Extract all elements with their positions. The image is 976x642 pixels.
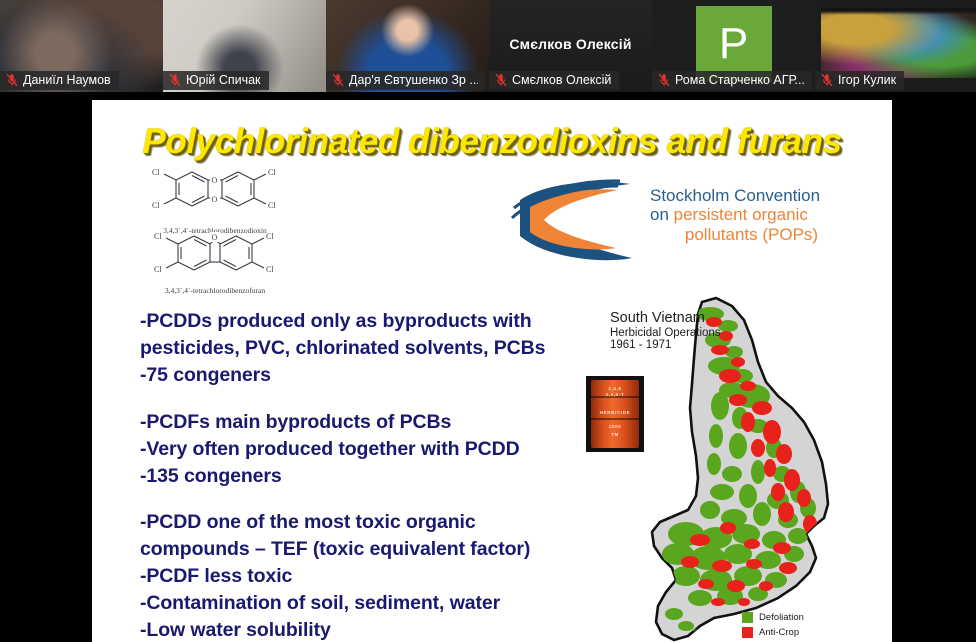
participant-nameplate-6: Ігор Кулик [815,71,904,90]
agent-orange-barrel-photo: 2,4,5 2,4,5-T HERBICIDE 1000 TM [586,376,644,452]
participant-video-6 [821,8,976,78]
barrel-text-5: TM [591,432,639,437]
participant-name-2: Юрій Спичак [186,73,261,87]
participant-nameplate-4: Смєлков Олексій [489,71,619,90]
logo-line-3: pollutants (POPs) [650,225,820,244]
tetrachlorodibenzofuran-structure: O Cl Cl Cl Cl 3,4,3`,4`-tetrachlorodiben… [140,230,290,295]
legend-label-anti-crop: Anti-Crop [759,627,799,638]
chlorine-label: Cl [154,265,162,274]
legend-swatch-green [742,612,753,623]
participant-name-3: Дар'я Євтушенко Зр ... [349,73,478,87]
barrel-text-4: 1000 [591,424,639,429]
bullet-lead-1: -PCDDs [140,310,212,332]
microphone-muted-icon [821,73,833,87]
microphone-muted-icon [6,73,18,87]
legend-item-defoliation: Defoliation [742,612,804,623]
chlorine-label: Cl [268,168,276,177]
participant-display-name-4: Смєлков Олексій [489,36,652,52]
barrel-text-1: 2,4,5 [591,386,639,391]
bullet-line-3: -75 congeners [140,362,600,389]
bullet-line-5: -PCDFs main byproducts of PCBs [140,409,600,436]
bullet-rest-1: produced only as byproducts with [212,310,532,332]
bullet-line-9: -PCDD one of the most toxic organic [140,509,600,536]
stockholm-convention-logo: Stockholm Convention on persistent organ… [510,178,880,276]
stockholm-swoosh-icon [510,178,648,270]
tetrachlorodibenzodioxin-structure: O O Cl Cl Cl Cl 3,4,3`,4`-tetrachlorodib… [140,168,290,235]
participant-tile-5[interactable]: Р Рома Старченко АГР... [652,0,815,92]
bullet-spacer-1 [140,389,600,409]
participant-filmstrip: Даниїл Наумов Юрій Спичак [0,0,976,92]
bullet-line-11: -PCDF less toxic [140,563,600,590]
bullet-rest-5: main byproducts of PCBs [210,411,451,433]
participant-nameplate-3: Дар'я Євтушенко Зр ... [326,71,486,90]
map-caption-line-3: 1961 - 1971 [610,339,721,351]
barrel-text-2: 2,4,5-T [591,392,639,397]
slide-title: Polychlorinated dibenzodioxins and furan… [92,122,892,162]
microphone-muted-icon [658,73,670,87]
map-caption-line-2: Herbicidal Operations [610,327,721,339]
bullet-line-10: compounds – TEF (toxic equivalent factor… [140,536,600,563]
oxygen-label: O [212,233,218,242]
participant-name-4: Смєлков Олексій [512,73,611,87]
bullet-line-2: pesticides, PVC, chlorinated solvents, P… [140,335,600,362]
bullet-line-7: -135 congeners [140,463,600,490]
chlorine-label: Cl [268,201,276,210]
oxygen-label: O [212,195,218,204]
bullet-line-12: -Contamination of soil, sediment, water [140,590,600,617]
logo-line-2-prefix: on [650,205,674,224]
participant-nameplate-2: Юрій Спичак [163,71,269,90]
participant-name-5: Рома Старченко АГР... [675,73,804,87]
map-legend: Defoliation Anti-Crop [742,612,804,642]
participant-name-1: Даниїл Наумов [23,73,111,87]
chlorine-label: Cl [266,265,274,274]
slide-body-text: -PCDDs produced only as byproducts with … [140,308,600,642]
logo-line-2: on persistent organic [650,205,820,224]
participant-tile-4[interactable]: Смєлков Олексій Смєлков Олексій [489,0,652,92]
participant-nameplate-5: Рома Старченко АГР... [652,71,812,90]
shared-screen-slide: Polychlorinated dibenzodioxins and furan… [92,100,892,642]
bullet-line-1: -PCDDs produced only as byproducts with [140,308,600,335]
bullet-spacer-2 [140,489,600,509]
legend-label-defoliation: Defoliation [759,612,804,623]
dioxin-skeleton-icon: O O Cl Cl Cl Cl [140,168,290,220]
microphone-muted-icon [495,73,507,87]
participant-name-6: Ігор Кулик [838,73,896,87]
oxygen-label: O [212,176,218,185]
barrel-text-3: HERBICIDE [591,410,639,415]
structure-caption-2: 3,4,3`,4`-tetrachlorodibenzofuran [140,286,290,295]
bullet-line-13: -Low water solubility [140,617,600,642]
legend-item-anti-crop: Anti-Crop [742,627,804,638]
logo-text-block: Stockholm Convention on persistent organ… [650,186,820,244]
participant-tile-1[interactable]: Даниїл Наумов [0,0,163,92]
zoom-meeting-screen: Даниїл Наумов Юрій Спичак [0,0,976,642]
participant-tile-6[interactable]: Ігор Кулик [815,0,976,92]
map-caption: South Vietnam Herbicidal Operations 1961… [610,310,721,351]
furan-skeleton-icon: O Cl Cl Cl Cl [140,230,290,280]
chlorine-label: Cl [266,232,274,241]
logo-line-2-highlight: persistent organic [674,205,808,224]
logo-line-1: Stockholm Convention [650,186,820,205]
chlorine-label: Cl [152,168,160,177]
bullet-lead-5: -PCDFs [140,411,210,433]
participant-nameplate-1: Даниїл Наумов [0,71,119,90]
microphone-muted-icon [169,73,181,87]
map-caption-line-1: South Vietnam [610,310,721,326]
chlorine-label: Cl [154,232,162,241]
participant-tile-2[interactable]: Юрій Спичак [163,0,326,92]
barrel-body: 2,4,5 2,4,5-T HERBICIDE 1000 TM [591,380,639,448]
legend-swatch-red [742,627,753,638]
chlorine-label: Cl [152,201,160,210]
south-vietnam-herbicide-map: South Vietnam Herbicidal Operations 1961… [582,296,892,642]
participant-tile-3[interactable]: Дар'я Євтушенко Зр ... [326,0,489,92]
bullet-line-6: -Very often produced together with PCDD [140,436,600,463]
microphone-muted-icon [332,73,344,87]
